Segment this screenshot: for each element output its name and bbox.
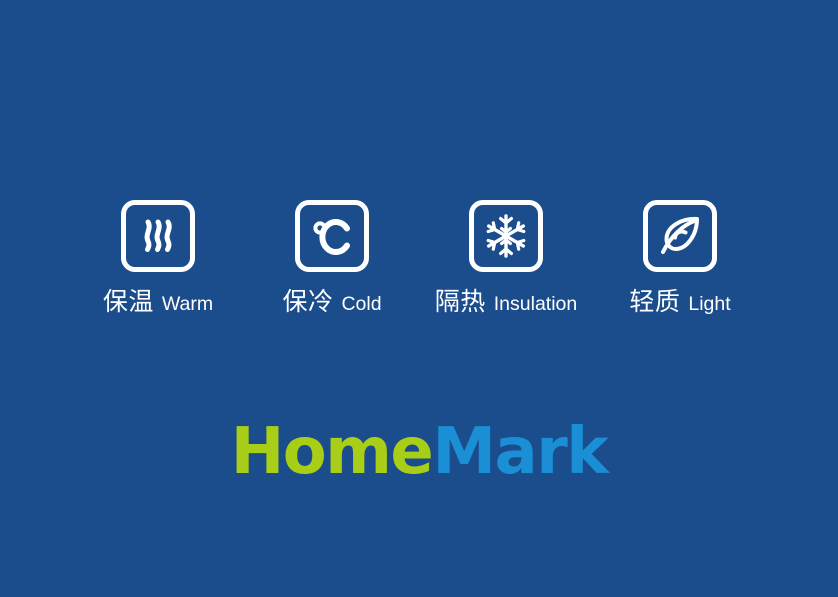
heat-waves-icon-frame [121, 200, 195, 272]
feature-label-en: Insulation [494, 295, 577, 315]
poster-canvas: 保温 Warm 保冷 Cold [0, 0, 838, 597]
feature-label-en: Warm [162, 295, 213, 315]
feature-label-cn: 隔热 [435, 289, 486, 314]
heat-waves-icon [136, 214, 180, 258]
feature-item-warm: 保温 Warm [121, 200, 195, 315]
feature-item-light: 轻质 Light [643, 200, 717, 315]
feature-item-insulation: 隔热 Insulation [469, 200, 543, 315]
feature-item-cold: 保冷 Cold [295, 200, 369, 315]
celsius-degree-icon-frame [295, 200, 369, 272]
snowflake-center-dot [503, 233, 509, 239]
leaf-icon-frame [643, 200, 717, 272]
feature-label-en: Light [688, 295, 730, 315]
feature-list: 保温 Warm 保冷 Cold [0, 200, 838, 315]
feature-label-cn: 保冷 [282, 289, 333, 314]
brand-logo-part-home: Home [231, 415, 433, 489]
snowflake-icon [483, 213, 529, 259]
feature-label-light: 轻质 Light [629, 289, 730, 315]
brand-logo: HomeMark [0, 420, 838, 484]
feature-label-cn: 保温 [103, 289, 154, 314]
feature-label-insulation: 隔热 Insulation [435, 289, 578, 315]
feature-label-warm: 保温 Warm [103, 289, 213, 315]
feature-label-cold: 保冷 Cold [282, 289, 381, 315]
snowflake-icon-frame [469, 200, 543, 272]
leaf-icon [657, 214, 703, 258]
celsius-degree-icon [309, 214, 355, 258]
feature-label-en: Cold [341, 295, 381, 315]
brand-logo-part-mark: Mark [432, 415, 607, 489]
feature-label-cn: 轻质 [629, 289, 680, 314]
